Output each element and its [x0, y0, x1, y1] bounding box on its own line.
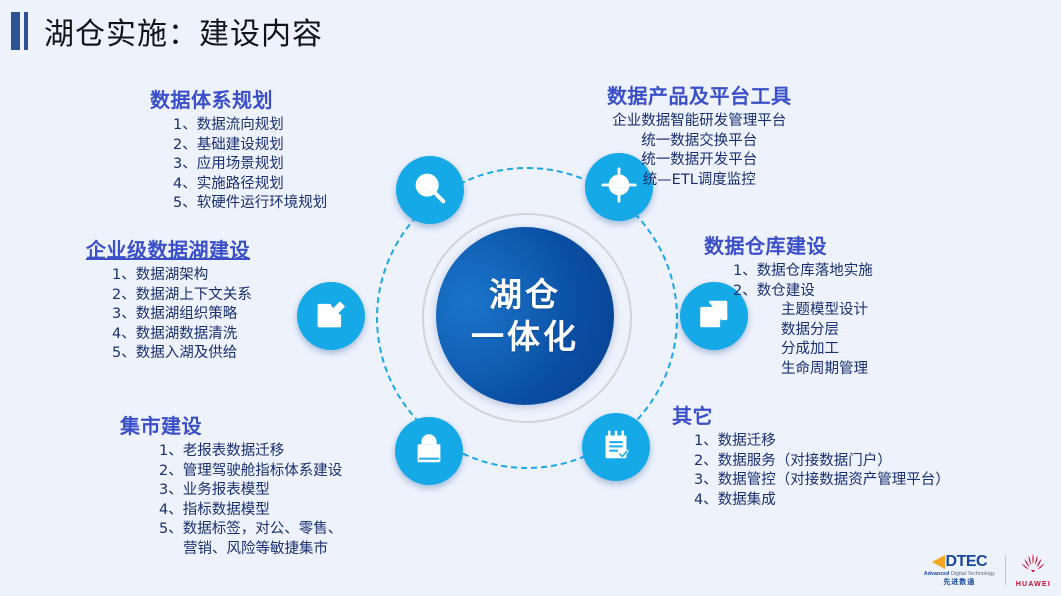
- list-item: 营销、风险等敏捷集市: [159, 540, 342, 560]
- huawei-flower-icon: [1018, 552, 1048, 578]
- badge-enterprise-data-lake[interactable]: [297, 282, 365, 350]
- block-list: 1、数据仓库落地实施 2、数仓建设 主题模型设计 数据分层 分成加工 生命周期管…: [704, 262, 873, 379]
- list-item: 5、软硬件运行环境规划: [173, 194, 327, 214]
- badge-data-system-planning[interactable]: [396, 156, 464, 224]
- block-list: 1、数据湖架构 2、数据湖上下文关系 3、数据湖组织策略 4、数据湖数据清洗 5…: [86, 266, 252, 364]
- list-item: 企业数据智能研发管理平台: [607, 112, 792, 132]
- list-item: 4、指标数据模型: [159, 501, 342, 521]
- huawei-wordmark: HUAWEI: [1016, 581, 1051, 588]
- list-item: 2、基础建设规划: [173, 136, 327, 156]
- dtec-tagline-rest: Digital Technology: [949, 571, 994, 577]
- list-item: 4、数据集成: [694, 491, 950, 511]
- block-heading: 其它: [672, 400, 950, 429]
- logo-divider: [1005, 555, 1006, 585]
- list-item: 1、数据流向规划: [173, 116, 327, 136]
- dtec-tagline-bold: Advanced: [924, 571, 950, 577]
- list-item: 数据分层: [733, 321, 873, 341]
- block-data-products-platform: 数据产品及平台工具 企业数据智能研发管理平台 统一数据交换平台 统一数据开发平台…: [607, 80, 792, 190]
- block-data-mart: 集市建设 1、老报表数据迁移 2、管理驾驶舱指标体系建设 3、业务报表模型 4、…: [120, 410, 342, 559]
- block-others: 其它 1、数据迁移 2、数据服务（对接数据门户） 3、数据管控（对接数据资产管理…: [672, 400, 950, 510]
- block-list: 企业数据智能研发管理平台 统一数据交换平台 统一数据开发平台 统—ETL调度监控: [607, 112, 792, 190]
- pencil-square-icon: [312, 295, 350, 337]
- list-item: 统—ETL调度监控: [607, 171, 792, 191]
- list-item: 统一数据交换平台: [607, 132, 792, 152]
- list-item: 分成加工: [733, 340, 873, 360]
- block-data-system-planning: 数据体系规划 1、数据流向规划 2、基础建设规划 3、应用场景规划 4、实施路径…: [150, 84, 327, 214]
- shopping-bag-icon: [410, 430, 448, 472]
- center-circle: 湖仓 一体化: [436, 227, 614, 405]
- dtec-logo: DTEC Advanced Digital Technology 先进数通: [924, 554, 995, 586]
- accent-bar-thin: [24, 12, 28, 50]
- list-item: 生命周期管理: [733, 360, 873, 380]
- center-line-2: 一体化: [471, 316, 579, 358]
- list-item: 统一数据开发平台: [607, 151, 792, 171]
- title-accent-bars: [11, 12, 28, 50]
- list-item: 4、实施路径规划: [173, 175, 327, 195]
- block-list: 1、老报表数据迁移 2、管理驾驶舱指标体系建设 3、业务报表模型 4、指标数据模…: [120, 442, 342, 559]
- list-item: 2、数据服务（对接数据门户）: [694, 452, 950, 472]
- list-item: 2、数据湖上下文关系: [112, 286, 252, 306]
- huawei-logo: HUAWEI: [1016, 552, 1051, 588]
- list-item: 主题模型设计: [733, 301, 873, 321]
- block-list: 1、数据流向规划 2、基础建设规划 3、应用场景规划 4、实施路径规划 5、软硬…: [150, 116, 327, 214]
- center-line-1: 湖仓: [489, 274, 561, 316]
- dtec-tagline: Advanced Digital Technology: [924, 572, 995, 577]
- list-item: 3、业务报表模型: [159, 481, 342, 501]
- dtec-wordmark-row: DTEC: [932, 554, 988, 570]
- list-item: 1、老报表数据迁移: [159, 442, 342, 462]
- list-item: 3、数据管控（对接数据资产管理平台）: [694, 471, 950, 491]
- dtec-chinese-name: 先进数通: [943, 579, 975, 586]
- list-item: 2、数仓建设: [733, 282, 873, 302]
- badge-others[interactable]: [582, 413, 650, 481]
- block-enterprise-data-lake: 企业级数据湖建设 1、数据湖架构 2、数据湖上下文关系 3、数据湖组织策略 4、…: [86, 234, 252, 364]
- block-heading: 集市建设: [120, 410, 342, 439]
- accent-bar-thick: [11, 12, 20, 50]
- footer-logos: DTEC Advanced Digital Technology 先进数通: [924, 552, 1051, 588]
- slide-canvas: 湖仓实施：建设内容 湖仓 一体化: [0, 0, 1061, 596]
- block-data-warehouse: 数据仓库建设 1、数据仓库落地实施 2、数仓建设 主题模型设计 数据分层 分成加…: [704, 230, 873, 379]
- magnifier-plus-icon: [411, 169, 449, 211]
- block-heading: 数据体系规划: [150, 84, 327, 113]
- badge-data-mart[interactable]: [395, 417, 463, 485]
- list-item: 4、数据湖数据清洗: [112, 325, 252, 345]
- notepad-check-icon: [597, 426, 635, 468]
- slide-header: 湖仓实施：建设内容: [0, 0, 1061, 62]
- block-heading: 数据仓库建设: [704, 230, 873, 259]
- block-list: 1、数据迁移 2、数据服务（对接数据门户） 3、数据管控（对接数据资产管理平台）…: [672, 432, 950, 510]
- list-item: 1、数据仓库落地实施: [733, 262, 873, 282]
- list-item: 3、应用场景规划: [173, 155, 327, 175]
- list-item: 1、数据迁移: [694, 432, 950, 452]
- dtec-arrow-icon: [932, 555, 945, 569]
- list-item: 5、数据标签，对公、零售、: [159, 520, 342, 540]
- list-item: 2、管理驾驶舱指标体系建设: [159, 462, 342, 482]
- list-item: 1、数据湖架构: [112, 266, 252, 286]
- block-heading: 数据产品及平台工具: [607, 80, 792, 109]
- list-item: 3、数据湖组织策略: [112, 305, 252, 325]
- page-title: 湖仓实施：建设内容: [44, 9, 323, 53]
- list-item: 5、数据入湖及供给: [112, 344, 252, 364]
- dtec-wordmark: DTEC: [946, 554, 988, 570]
- block-heading: 企业级数据湖建设: [86, 234, 252, 263]
